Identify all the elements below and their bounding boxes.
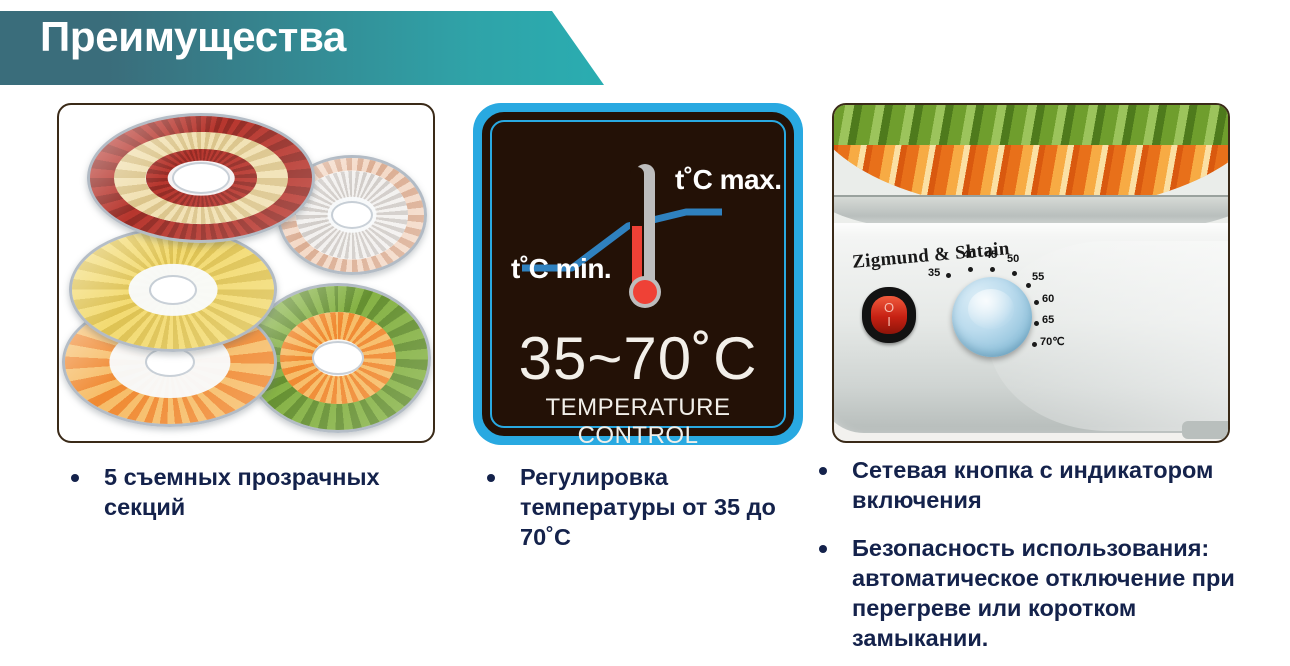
scale-tick-65: 65 [1042, 314, 1054, 326]
tray-cherry-banana [87, 113, 315, 243]
feature-list-1: 5 съемных прозрачных секций [57, 462, 457, 522]
feature-list-3: Сетевая кнопка с индикатором включения Б… [805, 455, 1275, 653]
scale-tick-60: 60 [1042, 293, 1054, 305]
temperature-range-caption: TEMPERATURE CONTROL [486, 394, 790, 445]
scale-tick-45: 45 [985, 249, 997, 261]
scale-tick-55: 55 [1032, 271, 1044, 283]
power-switch-on-glyph: I [862, 314, 916, 329]
feature-column-1: 5 съемных прозрачных секций [57, 462, 457, 540]
page-title: Преимущества [40, 14, 346, 60]
temperature-range-value: 35~70˚C [486, 324, 790, 393]
device-foot [1182, 421, 1230, 439]
list-item: Безопасность использования: автоматическ… [805, 533, 1275, 653]
trays-photo-panel [57, 103, 435, 443]
temperature-scale: 35 40 45 50 55 60 65 70℃ [942, 245, 1074, 365]
thermometer-icon [627, 164, 663, 332]
list-item: 5 съемных прозрачных секций [57, 462, 457, 522]
scale-tick-50: 50 [1007, 253, 1019, 265]
list-item: Сетевая кнопка с индикатором включения [805, 455, 1275, 515]
temperature-control-panel: t˚C max. t˚C min. 35~70˚C TEMPERATURE CO… [473, 103, 803, 445]
feature-list-2: Регулировка температуры от 35 до 70˚С [473, 462, 803, 552]
t-max-label: t˚C max. [675, 164, 781, 196]
t-min-label: t˚C min. [511, 253, 611, 285]
device-photo-panel: Zigmund & Shtain O I 35 40 45 50 55 60 6… [832, 103, 1230, 443]
power-switch-off-glyph: O [862, 300, 916, 315]
scale-tick-40: 40 [963, 249, 975, 261]
power-switch[interactable]: O I [862, 287, 916, 343]
temperature-control-inner: t˚C max. t˚C min. 35~70˚C TEMPERATURE CO… [482, 112, 794, 436]
scale-tick-35: 35 [928, 267, 940, 279]
feature-column-3: Сетевая кнопка с индикатором включения Б… [805, 455, 1275, 666]
feature-column-2: Регулировка температуры от 35 до 70˚С [473, 462, 803, 570]
tray-pineapple [69, 227, 277, 352]
slide-root: Преимущества [0, 0, 1290, 666]
list-item: Регулировка температуры от 35 до 70˚С [473, 462, 803, 552]
scale-tick-70: 70℃ [1040, 335, 1065, 348]
